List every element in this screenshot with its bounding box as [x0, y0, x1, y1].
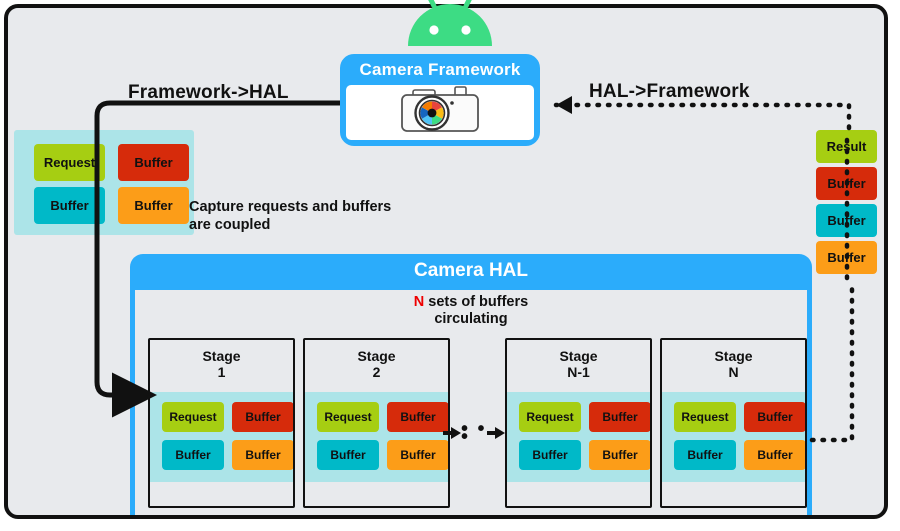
block-buffer-cyan: Buffer: [162, 440, 224, 470]
camera-framework-box[interactable]: Camera Framework: [340, 54, 540, 146]
camera-hal-body: N sets of buffers circulating Stage 1 Re…: [135, 290, 807, 515]
n-accent: N: [414, 294, 424, 310]
camera-framework-title: Camera Framework: [343, 57, 537, 83]
label-framework-to-hal: Framework->HAL: [128, 82, 289, 104]
block-buffer-red: Buffer: [118, 144, 189, 181]
stage-title: Stage 2: [305, 340, 448, 380]
stage-title: Stage 1: [150, 340, 293, 380]
camera-hal-title: Camera HAL: [130, 254, 812, 288]
stage-buffer-band: Request Buffer Buffer Buffer: [305, 392, 448, 482]
block-buffer-red: Buffer: [816, 167, 877, 200]
camera-hal-panel[interactable]: Camera HAL N sets of buffers circulating…: [130, 254, 812, 515]
stage-title: Stage N-1: [507, 340, 650, 380]
stage-title-index: N: [728, 364, 738, 380]
stage-title-index: 1: [218, 364, 226, 380]
stage-buffer-band: Request Buffer Buffer Buffer: [150, 392, 293, 482]
block-buffer-orange: Buffer: [589, 440, 651, 470]
block-buffer-red: Buffer: [232, 402, 294, 432]
block-result: Result: [816, 130, 877, 163]
block-buffer-red: Buffer: [387, 402, 449, 432]
stage-buffer-band: Request Buffer Buffer Buffer: [662, 392, 805, 482]
stage-title-word: Stage: [714, 348, 752, 364]
block-buffer-cyan: Buffer: [34, 187, 105, 224]
stage-title-index: N-1: [567, 364, 590, 380]
stage-buffer-band: Request Buffer Buffer Buffer: [507, 392, 650, 482]
block-request: Request: [317, 402, 379, 432]
block-buffer-cyan: Buffer: [519, 440, 581, 470]
block-request: Request: [674, 402, 736, 432]
block-buffer-orange: Buffer: [387, 440, 449, 470]
block-request: Request: [519, 402, 581, 432]
block-request: Request: [162, 402, 224, 432]
stage-box-n[interactable]: Stage N Request Buffer Buffer Buffer: [660, 338, 807, 508]
stage-box-2[interactable]: Stage 2 Request Buffer Buffer Buffer: [303, 338, 450, 508]
block-buffer-red: Buffer: [589, 402, 651, 432]
stage-title-word: Stage: [559, 348, 597, 364]
coupled-group-caption: Capture requests and buffers are coupled: [189, 198, 399, 234]
block-buffer-orange: Buffer: [232, 440, 294, 470]
stage-box-1[interactable]: Stage 1 Request Buffer Buffer Buffer: [148, 338, 295, 508]
stage-title: Stage N: [662, 340, 805, 380]
label-hal-to-framework: HAL->Framework: [589, 81, 750, 103]
stage-title-word: Stage: [357, 348, 395, 364]
block-request: Request: [34, 144, 105, 181]
block-buffer-red: Buffer: [744, 402, 806, 432]
stage-title-word: Stage: [202, 348, 240, 364]
stage-title-index: 2: [373, 364, 381, 380]
n-note-rest: sets of buffers: [424, 294, 528, 310]
stage-gap-ellipsis-arrows: • • •: [451, 423, 505, 443]
block-buffer-orange: Buffer: [816, 241, 877, 274]
block-buffer-cyan: Buffer: [317, 440, 379, 470]
n-sets-of-buffers-note: N sets of buffers circulating: [135, 294, 807, 328]
block-buffer-orange: Buffer: [744, 440, 806, 470]
block-buffer-cyan: Buffer: [674, 440, 736, 470]
result-buffer-stack: Result Buffer Buffer Buffer: [816, 130, 877, 278]
arrow-right-icon: [495, 427, 505, 439]
camera-framework-body: [346, 85, 534, 140]
camera-icon: [397, 82, 483, 143]
coupled-request-buffer-group: Request Buffer Buffer Buffer: [14, 130, 194, 235]
android-robot-icon: [404, 0, 496, 50]
block-buffer-orange: Buffer: [118, 187, 189, 224]
arrow-right-icon: [451, 427, 461, 439]
diagram-canvas: Camera Framework: [0, 0, 900, 531]
stage-box-n-minus-1[interactable]: Stage N-1 Request Buffer Buffer Buffer: [505, 338, 652, 508]
block-buffer-cyan: Buffer: [816, 204, 877, 237]
n-note-line2: circulating: [434, 311, 507, 327]
